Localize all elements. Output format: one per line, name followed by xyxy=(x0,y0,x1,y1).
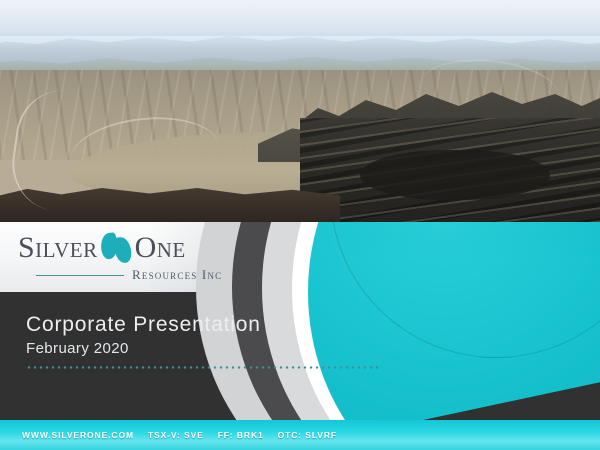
pit-floor xyxy=(360,150,550,200)
logo-word-silver: Silver xyxy=(18,233,98,263)
dotted-divider xyxy=(26,366,382,369)
logo-wordmark: Silver One xyxy=(18,228,248,268)
page-subtitle: February 2020 xyxy=(26,340,386,357)
interlocking-crescents-icon xyxy=(100,231,134,265)
logo-word-one: One xyxy=(135,233,186,263)
footer-bar: WWW.SILVERONE.COMTSX-V: SVEFF: BRK1OTC: … xyxy=(0,420,600,450)
logo-rule xyxy=(36,275,124,276)
company-logo[interactable]: Silver One Resources Inc xyxy=(18,228,248,286)
page-title: Corporate Presentation xyxy=(26,312,386,338)
title-block: Corporate Presentation February 2020 xyxy=(26,312,386,357)
logo-tagline-row: Resources Inc xyxy=(18,266,248,284)
footer-listing-tsxv: TSX-V: SVE xyxy=(148,430,204,440)
footer-listing-ff: FF: BRK1 xyxy=(218,430,264,440)
title-slide: Silver One Resources Inc Corporate Prese… xyxy=(0,0,600,450)
footer-listing-otc: OTC: SLVRF xyxy=(278,430,337,440)
logo-tagline: Resources Inc xyxy=(132,267,222,283)
footer-website[interactable]: WWW.SILVERONE.COM xyxy=(22,430,134,440)
hero-photo xyxy=(0,0,600,222)
footer-content: WWW.SILVERONE.COMTSX-V: SVEFF: BRK1OTC: … xyxy=(22,430,351,440)
